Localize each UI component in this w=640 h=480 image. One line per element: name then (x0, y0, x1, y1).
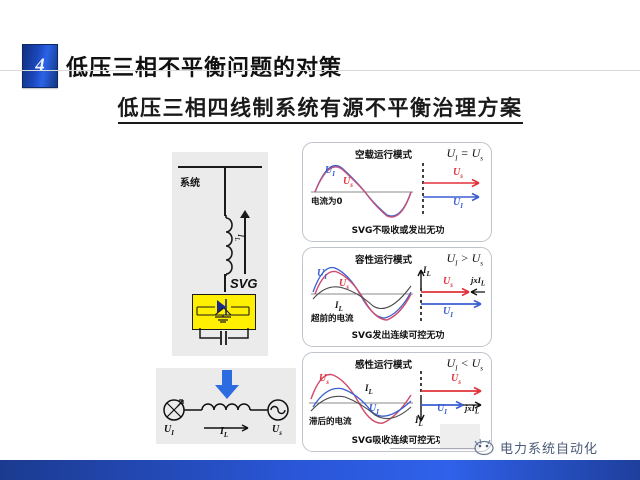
system-label: 系统 (180, 174, 200, 189)
phasor-label-Us: Us (453, 167, 463, 180)
wave-label-Us: Us (319, 373, 329, 386)
svg-device-label: SVG (230, 276, 257, 291)
slide-root: 4 低压三相不平衡问题的对策 低压三相四线制系统有源不平衡治理方案 系统 IL … (0, 0, 640, 480)
capacitor-icon (198, 328, 250, 348)
slide-header: 4 低压三相不平衡问题的对策 (0, 22, 640, 70)
busbar-line (178, 166, 262, 168)
phasor-label-UI: UI (443, 306, 453, 319)
equivalent-circuit-diagram: UI IL Us (156, 368, 296, 444)
eq-current-label: IL (220, 426, 228, 439)
feeder-line-upper (224, 166, 226, 216)
mode-caption: SVG不吸收或发出无功 (303, 223, 493, 236)
wave-label-Us: Us (343, 176, 353, 189)
wave-note: 电流为0 (311, 195, 342, 207)
wave-label-Us: Us (339, 278, 349, 291)
phasor-label-UI: UI (453, 197, 463, 210)
svg-converter-box (192, 294, 256, 330)
section-number-badge: 4 (22, 44, 58, 88)
bottom-accent-bar (0, 460, 640, 480)
feeder-line-lower (224, 274, 226, 292)
phasor-label-IL: IL (415, 415, 423, 428)
eq-source-left-label: UI (164, 424, 174, 437)
page-title: 低压三相不平衡问题的对策 (66, 50, 342, 82)
wave-label-IL: IL (365, 383, 373, 396)
mode-panel-capacitive[interactable]: 容性运行模式 UI > Us UI Us IL 超前的电流 IL Us jxIL… (302, 247, 492, 347)
phasor-label-Us: Us (451, 373, 461, 386)
wave-label-UI: UI (317, 268, 327, 281)
wave-note: 滞后的电流 (309, 415, 352, 427)
system-svg-diagram: 系统 IL SVG (172, 152, 268, 356)
brand-logo-icon (470, 436, 496, 456)
wave-note: 超前的电流 (311, 312, 354, 324)
converter-schematic-icon (193, 295, 253, 327)
wave-label-UI: UI (325, 165, 335, 178)
phasor-label-Us: Us (443, 276, 453, 289)
phasor-label-jxIL: jxIL (471, 275, 485, 288)
phasor-label-UI: UI (437, 403, 447, 416)
slide-subtitle: 低压三相四线制系统有源不平衡治理方案 (0, 92, 640, 122)
eq-source-right-label: Us (272, 424, 282, 437)
wave-label-UI: UI (369, 403, 379, 416)
mode-relation: UI = Us (446, 146, 483, 162)
footer-brand-text: 电力系统自动化 (500, 438, 598, 457)
current-arrow-shaft (244, 214, 246, 274)
mode-caption: SVG发出连续可控无功 (303, 328, 493, 341)
current-label-IL: IL (233, 234, 246, 241)
inductor-coil-icon (216, 214, 236, 276)
slide-subtitle-text: 低压三相四线制系统有源不平衡治理方案 (118, 96, 523, 124)
wave-label-IL: IL (335, 300, 343, 313)
mode-panel-no-load[interactable]: 空载运行模式 UI = Us UI Us 电流为0 Us UI SVG不吸收或发… (302, 142, 492, 242)
header-divider (0, 70, 640, 71)
footer-rule (390, 448, 476, 449)
phasor-label-jxIL: jxIL (465, 403, 479, 416)
phasor-label-IL: IL (423, 265, 431, 278)
